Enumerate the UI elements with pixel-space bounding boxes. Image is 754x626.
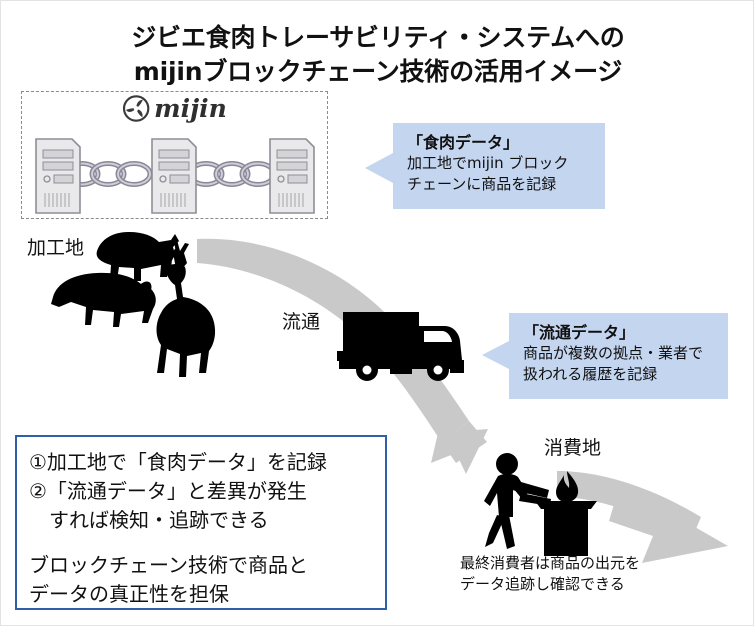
summary-spacer xyxy=(29,535,375,551)
person-grilling-icon xyxy=(484,453,597,556)
stage-label-consumption: 消費地 xyxy=(544,433,601,460)
callout-line-1: 加工地でmijin ブロック xyxy=(407,153,593,174)
server-node-1 xyxy=(36,139,80,213)
flow-arrow-head-mid xyxy=(431,429,488,474)
page-title: ジビエ食肉トレーサビリティ・システムへの mijinブロックチェーン技術の活用イ… xyxy=(1,21,754,88)
callout-logistics-data: 「流通データ」 商品が複数の拠点・業者で 扱われる履歴を記録 xyxy=(509,313,728,399)
mijin-logo: mijin xyxy=(122,95,227,122)
callout-tail-icon xyxy=(365,153,393,183)
consumer-caption-line-2: データ追跡し確認できる xyxy=(460,574,730,595)
callout-line-2: チェーンに商品を記録 xyxy=(407,174,593,195)
callout-heading: 「流通データ」 xyxy=(523,323,716,343)
summary-conclusion-2: データの真正性を担保 xyxy=(29,580,375,609)
mijin-emblem-icon xyxy=(122,95,149,122)
callout-heading: 「食肉データ」 xyxy=(407,133,593,153)
consumer-caption-line-1: 最終消費者は商品の出元を xyxy=(460,553,730,574)
server-node-2 xyxy=(152,139,196,213)
summary-conclusion-1: ブロックチェーン技術で商品と xyxy=(29,551,375,580)
stage-label-processing: 加工地 xyxy=(27,233,84,260)
mijin-blockchain-panel: mijin xyxy=(21,91,328,219)
flow-arrow-segment-lower xyxy=(557,471,701,541)
title-line-1: ジビエ食肉トレーサビリティ・システムへの xyxy=(1,21,754,55)
delivery-truck-icon xyxy=(337,312,464,381)
title-line-2: mijinブロックチェーン技術の活用イメージ xyxy=(1,55,754,89)
infographic-canvas: ジビエ食肉トレーサビリティ・システムへの mijinブロックチェーン技術の活用イ… xyxy=(0,0,754,626)
flow-arrow-segment-middle xyxy=(442,421,487,463)
bear-silhouette-icon xyxy=(97,232,179,281)
callout-meat-data: 「食肉データ」 加工地でmijin ブロック チェーンに商品を記録 xyxy=(393,123,605,209)
callout-tail-icon xyxy=(482,341,509,369)
mijin-wordmark: mijin xyxy=(154,96,227,121)
summary-line-2: ②「流通データ」と差異が発生 xyxy=(29,477,375,506)
summary-line-1: ①加工地で「食肉データ」を記録 xyxy=(29,448,375,477)
flow-arrow-head-end xyxy=(609,484,728,563)
server-node-3 xyxy=(270,139,314,213)
flow-arrow-segment-upper xyxy=(197,239,469,443)
summary-box: ①加工地で「食肉データ」を記録 ②「流通データ」と差異が発生 すれば検知・追跡で… xyxy=(15,435,387,610)
callout-line-1: 商品が複数の拠点・業者で xyxy=(523,343,716,364)
chain-link-group-2 xyxy=(190,164,274,185)
boar-silhouette-icon xyxy=(51,273,156,327)
stage-label-distribution: 流通 xyxy=(282,307,320,334)
callout-line-2: 扱われる履歴を記録 xyxy=(523,364,716,385)
summary-line-3: すれば検知・追跡できる xyxy=(29,506,375,535)
deer-silhouette-icon xyxy=(157,240,216,377)
blockchain-nodes-row xyxy=(22,136,329,216)
consumer-caption: 最終消費者は商品の出元を データ追跡し確認できる xyxy=(460,553,730,596)
